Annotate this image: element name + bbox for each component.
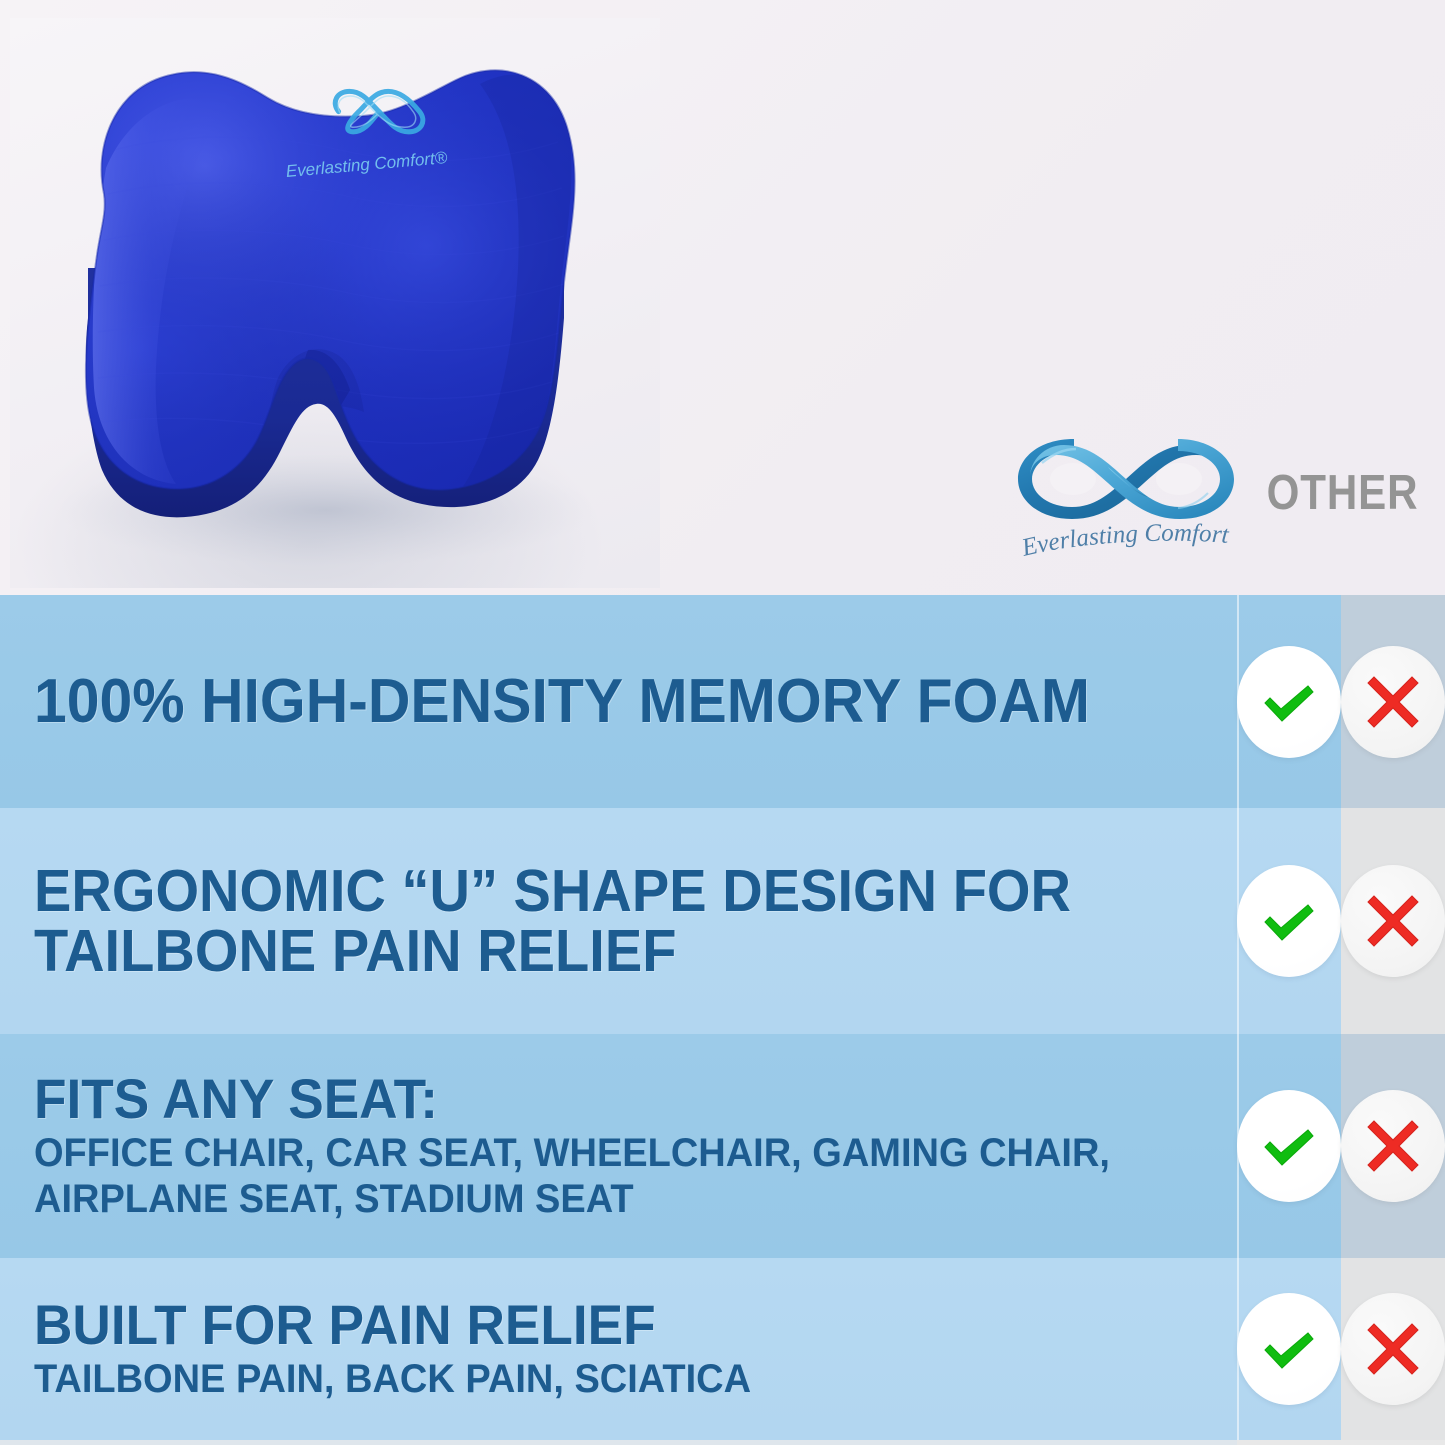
check-badge	[1237, 1090, 1341, 1202]
cross-icon	[1362, 1318, 1424, 1380]
other-mark-cell	[1341, 808, 1445, 1034]
check-icon	[1257, 889, 1321, 953]
check-badge	[1237, 1293, 1341, 1405]
feature-subtitle: TAILBONE PAIN, BACK PAIN, SCIATICA	[34, 1357, 1177, 1403]
table-row: FITS ANY SEAT: OFFICE CHAIR, CAR SEAT, W…	[0, 1034, 1445, 1258]
product-comparison-infographic: Everlasting Comfort®	[0, 0, 1445, 1445]
feature-title: ERGONOMIC “U” SHAPE DESIGN FOR TAILBONE …	[34, 861, 1177, 981]
check-icon	[1257, 670, 1321, 734]
own-mark-cell	[1237, 1258, 1341, 1440]
check-badge	[1237, 646, 1341, 758]
column-divider	[1237, 1034, 1239, 1258]
feature-cell: ERGONOMIC “U” SHAPE DESIGN FOR TAILBONE …	[0, 808, 1237, 1034]
column-divider	[1237, 1258, 1239, 1440]
brand-logo-header: Everlasting Comfort®	[1012, 425, 1240, 565]
feature-cell: BUILT FOR PAIN RELIEF TAILBONE PAIN, BAC…	[0, 1258, 1237, 1440]
cross-badge	[1341, 646, 1445, 758]
column-header-other: OTHER	[1254, 465, 1430, 521]
table-row: ERGONOMIC “U” SHAPE DESIGN FOR TAILBONE …	[0, 808, 1445, 1034]
feature-cell: FITS ANY SEAT: OFFICE CHAIR, CAR SEAT, W…	[0, 1034, 1237, 1258]
feature-title: BUILT FOR PAIN RELIEF	[34, 1296, 1177, 1353]
check-icon	[1257, 1114, 1321, 1178]
own-mark-cell	[1237, 1034, 1341, 1258]
own-mark-cell	[1237, 808, 1341, 1034]
bottom-strip	[0, 1440, 1445, 1445]
cross-badge	[1341, 1090, 1445, 1202]
own-mark-cell	[1237, 595, 1341, 808]
cross-badge	[1341, 1293, 1445, 1405]
other-mark-cell	[1341, 1258, 1445, 1440]
product-photo: Everlasting Comfort®	[10, 18, 660, 588]
infinity-logo-icon: Everlasting Comfort®	[1012, 425, 1240, 565]
column-divider	[1237, 808, 1239, 1034]
hero-section: Everlasting Comfort®	[0, 0, 1445, 595]
feature-cell: 100% HIGH-DENSITY MEMORY FOAM	[0, 595, 1237, 808]
other-mark-cell	[1341, 595, 1445, 808]
feature-subtitle: OFFICE CHAIR, CAR SEAT, WHEELCHAIR, GAMI…	[34, 1131, 1177, 1222]
check-badge	[1237, 865, 1341, 977]
other-mark-cell	[1341, 1034, 1445, 1258]
feature-title: 100% HIGH-DENSITY MEMORY FOAM	[34, 670, 1177, 733]
column-divider	[1237, 595, 1239, 808]
cross-icon	[1362, 890, 1424, 952]
comparison-table: 100% HIGH-DENSITY MEMORY FOAM	[0, 595, 1445, 1440]
blue-memory-foam-seat-cushion-image: Everlasting Comfort®	[10, 18, 660, 588]
table-row: BUILT FOR PAIN RELIEF TAILBONE PAIN, BAC…	[0, 1258, 1445, 1440]
check-icon	[1257, 1317, 1321, 1381]
feature-title: FITS ANY SEAT:	[34, 1070, 1177, 1127]
cross-icon	[1362, 1115, 1424, 1177]
table-row: 100% HIGH-DENSITY MEMORY FOAM	[0, 595, 1445, 808]
cross-badge	[1341, 865, 1445, 977]
cross-icon	[1362, 671, 1424, 733]
